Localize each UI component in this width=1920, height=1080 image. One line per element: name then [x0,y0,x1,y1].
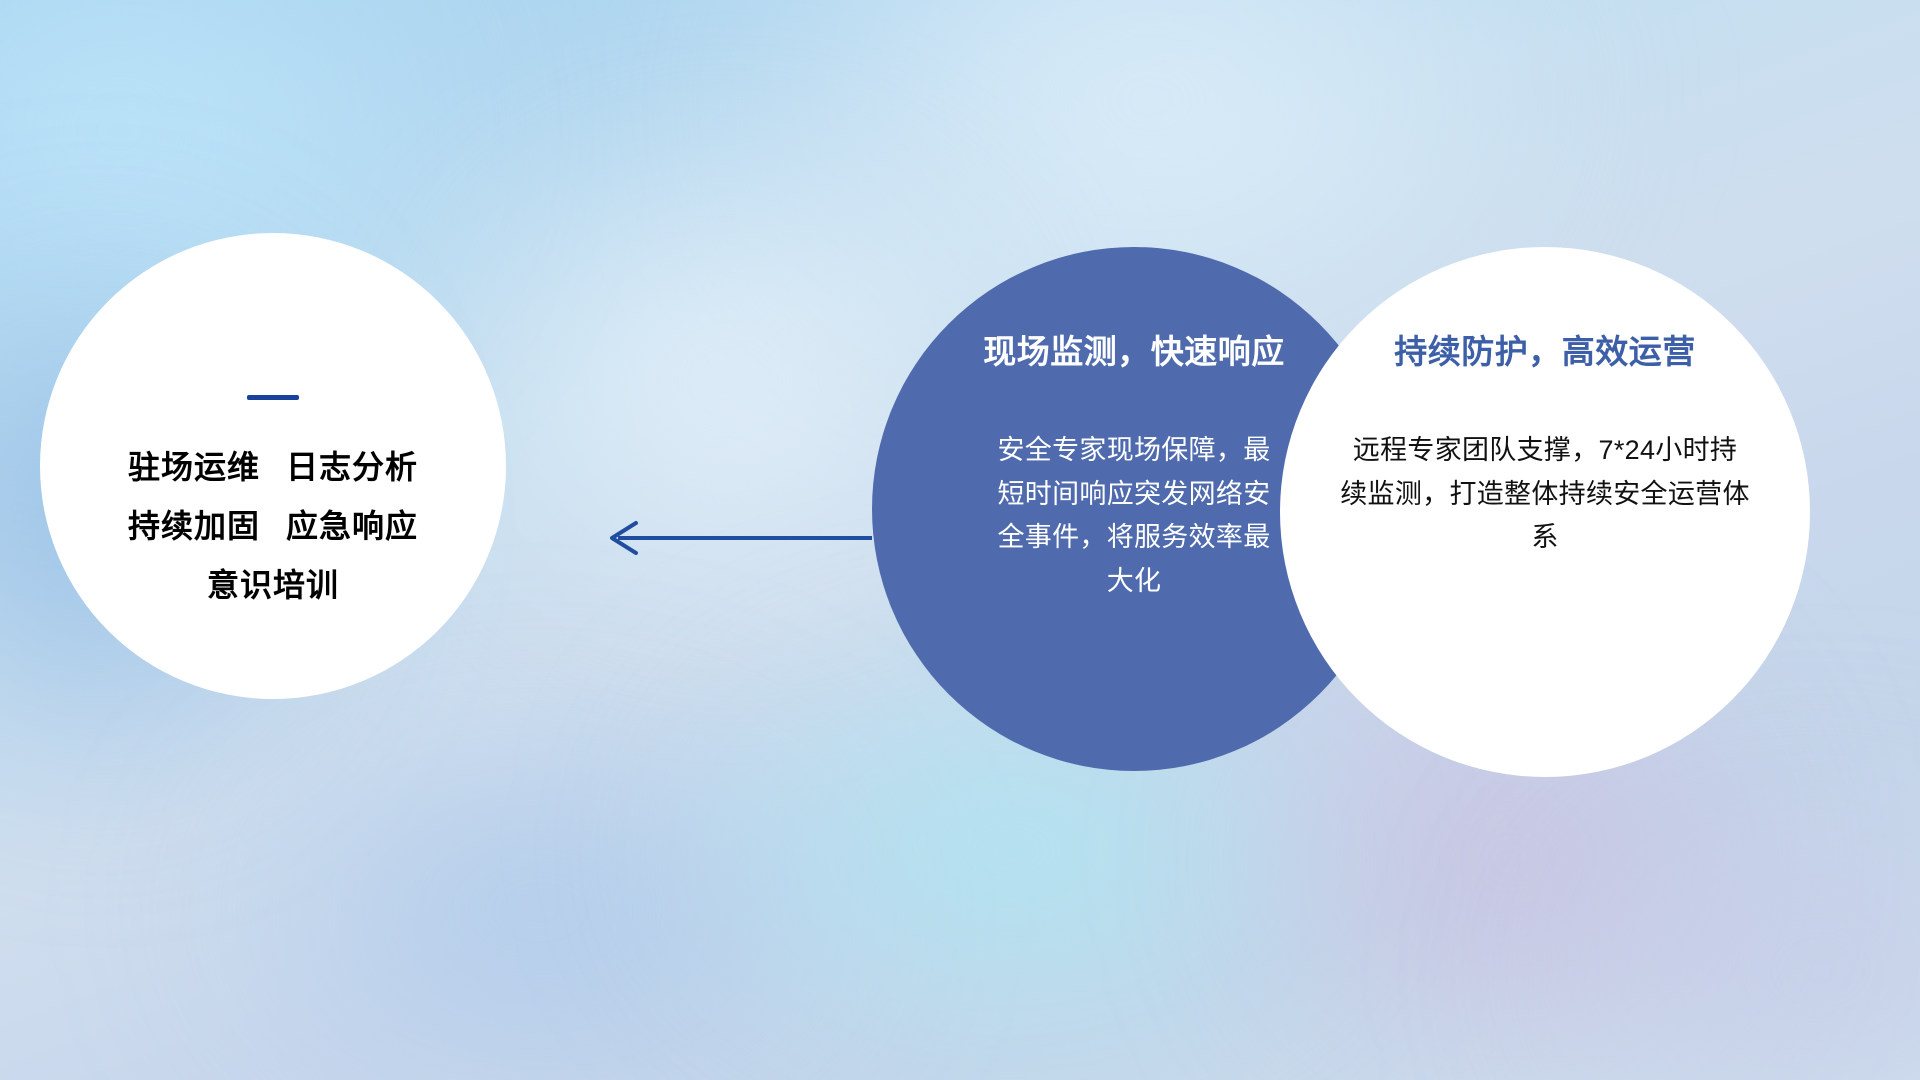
right-highlight-circle[interactable]: 持续防护，高效运营 远程专家团队支撑，7*24小时持续监测，打造整体持续安全运营… [1280,247,1810,777]
keyword-row: 驻场运维日志分析 [128,438,418,497]
keyword-item: 持续加固 [128,508,260,544]
left-keyword-circle[interactable]: 驻场运维日志分析 持续加固应急响应 意识培训 [40,233,506,699]
left-keyword-list: 驻场运维日志分析 持续加固应急响应 意识培训 [128,438,418,616]
keyword-item: 驻场运维 [128,449,260,485]
keyword-item: 应急响应 [286,508,418,544]
left-divider-rule [247,395,299,400]
slide-canvas: 驻场运维日志分析 持续加固应急响应 意识培训 现场监测，快速响应 安全专家现场保… [0,0,1920,1080]
middle-circle-body: 安全专家现场保障，最短时间响应突发网络安全事件，将服务效率最大化 [984,429,1284,604]
keyword-item: 意识培训 [207,567,339,603]
keyword-row: 持续加固应急响应 [128,497,418,556]
middle-circle-title: 现场监测，快速响应 [983,325,1285,373]
right-circle-title: 持续防护，高效运营 [1394,325,1696,373]
keyword-item: 日志分析 [286,449,418,485]
keyword-row: 意识培训 [128,556,418,615]
right-circle-body: 远程专家团队支撑，7*24小时持续监测，打造整体持续安全运营体系 [1340,429,1750,560]
flow-arrow-icon [596,515,876,561]
